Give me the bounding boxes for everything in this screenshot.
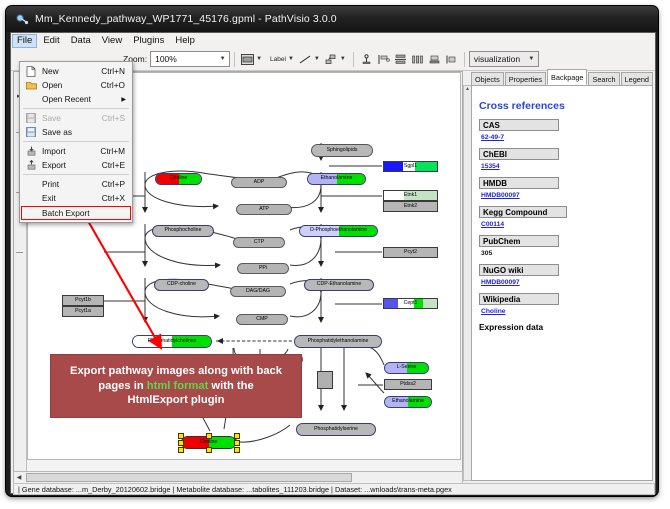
menu-item-open-label: Open [42, 80, 101, 90]
menu-item-save: Save Ctrl+S [20, 111, 132, 125]
xref-value-link[interactable]: 15354 [481, 163, 652, 170]
pathvisio-app-icon [16, 13, 29, 26]
shape-chevron-icon[interactable]: ▼ [340, 56, 346, 62]
xref-source-label: PubChem [479, 235, 559, 247]
menu-view[interactable]: View [97, 34, 127, 48]
xref-value-link[interactable]: HMDB00097 [481, 279, 652, 286]
pathway-node-dag[interactable]: DAG/DAG [230, 286, 286, 297]
cross-references-title: Cross references [479, 100, 652, 112]
import-icon [20, 146, 42, 156]
menu-edit[interactable]: Edit [38, 34, 64, 48]
shape-icon[interactable] [324, 52, 339, 67]
pathway-node-choline[interactable]: Choline [155, 173, 202, 185]
chevron-down-icon: ▼ [218, 56, 227, 62]
status-bar-text: | Gene database: ...m_Derby_20120602.bri… [18, 485, 452, 494]
menu-plugins[interactable]: Plugins [128, 34, 169, 48]
pathway-node-ethanolamine[interactable]: Ethanolamine [307, 173, 366, 185]
xref-value-link[interactable]: 62-49-7 [481, 134, 652, 141]
xref-source-label: HMDB [479, 177, 559, 189]
align-left-icon[interactable] [376, 52, 391, 67]
menu-item-new[interactable]: New Ctrl+N [20, 64, 132, 78]
xref-source-label: Wikipedia [479, 293, 559, 305]
pathway-gene-sgpl1[interactable]: Sgpl1 [383, 161, 438, 172]
menu-separator-3 [23, 174, 129, 175]
visualization-value: visualization [474, 54, 520, 64]
menu-data[interactable]: Data [66, 34, 96, 48]
window-title: Mm_Kennedy_pathway_WP1771_45176.gpml - P… [35, 13, 337, 25]
pathway-node-phosphatidylethanolamine[interactable]: Phosphatidylethanolamine [294, 335, 382, 348]
selection-handle-nw[interactable] [178, 433, 184, 439]
node-fill-green [415, 162, 437, 171]
group-icon[interactable] [444, 52, 459, 67]
menu-item-batch-export-label: Batch Export [42, 208, 130, 218]
anchor-icon[interactable] [359, 52, 374, 67]
xref-nugo-wiki: NuGO wiki HMDB00097 [472, 264, 652, 286]
annotation-callout: Export pathway images along with back pa… [50, 354, 302, 418]
zoom-combobox[interactable]: 100% ▼ [150, 51, 230, 67]
tab-properties[interactable]: Properties [505, 72, 546, 85]
xref-value-link[interactable]: HMDB00097 [481, 192, 652, 199]
tab-backpage[interactable]: Backpage [547, 69, 587, 85]
menu-item-save-label: Save [42, 113, 102, 123]
menu-item-save-as[interactable]: Save as [20, 125, 132, 139]
pathway-node-adp[interactable]: ADP [231, 177, 287, 188]
xref-chebi: ChEBI 15354 [472, 148, 652, 170]
menu-item-new-shortcut: Ctrl+N [101, 66, 125, 76]
label-button[interactable]: Label [270, 56, 286, 63]
open-folder-icon [20, 80, 42, 90]
pathway-node-ethanolamine-2[interactable]: Ethanolamine [384, 396, 432, 408]
menu-bar: File Edit Data View Plugins Help [11, 33, 655, 49]
pathway-shape-block[interactable] [317, 371, 333, 389]
node-fill-blue [384, 299, 398, 308]
selection-handle-ne[interactable] [234, 433, 240, 439]
side-panel: ▲ Objects Properties Backpage Search Leg… [463, 71, 653, 482]
menu-item-import-shortcut: Ctrl+M [100, 146, 125, 156]
pathway-node-o-phosphoethanolamine[interactable]: O-Phosphoethanolamine [299, 225, 378, 237]
callout-line-2: pages in html format with the [98, 379, 253, 394]
xref-value-link[interactable]: Choline [481, 308, 652, 315]
side-panel-tabs: Objects Properties Backpage Search Legen… [471, 71, 653, 85]
node-fill-white [384, 191, 404, 200]
pathway-gene-ptdss2[interactable]: Ptdss2 [384, 379, 432, 390]
menu-item-open-recent-label: Open Recent [42, 94, 121, 104]
tab-legend[interactable]: Legend [621, 72, 653, 85]
xref-pubchem: PubChem 305 [472, 235, 652, 257]
window-client-area: File Edit Data View Plugins Help Zoom: 1… [10, 32, 656, 494]
pathway-gene-pcyt2[interactable]: Pcyt2 [383, 247, 438, 258]
xref-kegg-compound: Kegg Compound C00114 [472, 206, 652, 228]
menu-item-print-shortcut: Ctrl+P [102, 179, 125, 189]
export-icon [20, 160, 42, 170]
menu-item-export[interactable]: Export Ctrl+E [20, 158, 132, 172]
chevron-down-icon: ▼ [527, 56, 536, 62]
save-as-icon [20, 127, 42, 137]
menu-item-exit-shortcut: Ctrl+X [102, 193, 125, 203]
pathway-node-phosphocholine[interactable]: Phosphocholine [152, 225, 214, 237]
pathway-node-cdp-choline[interactable]: CDP-choline [154, 279, 209, 291]
menu-item-import[interactable]: Import Ctrl+M [20, 144, 132, 158]
pathway-gene-etnk1[interactable]: Etnk1 [383, 190, 438, 201]
xref-value-text: 305 [481, 250, 652, 257]
menu-help[interactable]: Help [170, 34, 200, 48]
xref-source-label: CAS [479, 119, 559, 131]
callout-line-1: Export pathway images along with back [70, 364, 282, 379]
scroll-left-icon[interactable]: ◀ [14, 473, 24, 482]
pathway-node-sphingolipids[interactable]: Sphingolipids [311, 144, 373, 157]
menu-item-import-label: Import [42, 146, 100, 156]
xref-cas: CAS 62-49-7 [472, 119, 652, 141]
menu-item-exit-label: Exit [42, 193, 102, 203]
menu-separator-2 [23, 141, 129, 142]
line-chevron-icon[interactable]: ▼ [314, 56, 320, 62]
pathway-node-atp[interactable]: ATP [236, 204, 292, 215]
pathway-node-phosphatidylcholines[interactable]: Phosphatidylcholines [132, 335, 212, 348]
selection-handle-sw[interactable] [178, 447, 184, 453]
pathway-node-cmp[interactable]: CMP [236, 314, 288, 325]
gene-product-chevron-icon[interactable]: ▼ [256, 56, 262, 62]
callout-line2-post: with the [208, 380, 253, 392]
scroll-up-icon[interactable]: ▲ [464, 86, 471, 92]
pathway-node-cdp-ethanolamine[interactable]: CDP-Ethanolamine [304, 279, 374, 291]
save-disk-icon [20, 113, 42, 123]
xref-wikipedia: Wikipedia Choline [472, 293, 652, 315]
scrollbar-thumb[interactable] [26, 473, 352, 482]
xref-source-label: ChEBI [479, 148, 559, 160]
file-menu-dropdown[interactable]: New Ctrl+N Open Ctrl+O Open Recent ▶ [19, 61, 133, 223]
title-bar: Mm_Kennedy_pathway_WP1771_45176.gpml - P… [6, 6, 658, 32]
label-chevron-icon[interactable]: ▼ [288, 56, 294, 62]
pathway-gene-pcyt1a[interactable]: Pcyt1a [62, 306, 104, 317]
tab-objects[interactable]: Objects [471, 72, 504, 85]
distribute-icon[interactable] [410, 52, 425, 67]
zoom-value: 100% [155, 54, 177, 64]
xref-source-label: Kegg Compound [479, 206, 567, 218]
new-document-icon [20, 66, 42, 77]
menu-item-batch-export[interactable]: Batch Export [21, 206, 131, 220]
backpage-content: Cross references CAS 62-49-7 ChEBI 15354… [471, 85, 653, 481]
pathway-gene-etnk2[interactable]: Etnk2 [383, 201, 438, 212]
pathway-node-l-serine[interactable]: L-Serine [384, 362, 429, 374]
menu-item-new-label: New [42, 66, 101, 76]
toolbar-separator [234, 52, 235, 67]
callout-line2-pre: pages in [98, 380, 147, 392]
menu-item-print[interactable]: Print Ctrl+P [20, 177, 132, 191]
xref-value-link[interactable]: C00114 [481, 221, 652, 228]
xref-source-label: NuGO wiki [479, 264, 559, 276]
callout-line-3: HtmlExport plugin [128, 393, 225, 408]
pathway-gene-cept1[interactable]: Cept1 [383, 298, 438, 309]
stack-icon[interactable] [427, 52, 442, 67]
xref-hmdb: HMDB HMDB00097 [472, 177, 652, 199]
visualization-combobox[interactable]: visualization ▼ [469, 51, 539, 67]
menu-item-export-label: Export [42, 160, 102, 170]
menu-item-open-shortcut: Ctrl+O [101, 80, 125, 90]
toolbar-separator-2 [353, 52, 354, 67]
toolbar-separator-3 [464, 52, 465, 67]
pathway-node-ctp[interactable]: CTP [233, 237, 285, 248]
menu-file[interactable]: File [12, 34, 37, 48]
selection-handle-se[interactable] [234, 447, 240, 453]
menu-item-open-recent[interactable]: Open Recent ▶ [20, 92, 132, 106]
menu-item-save-as-label: Save as [42, 127, 125, 137]
node-fill-blue [384, 162, 403, 171]
expression-data-title: Expression data [479, 322, 652, 332]
chevron-right-icon: ▶ [121, 96, 126, 103]
line-icon[interactable] [298, 52, 313, 67]
selection-handle-e[interactable] [234, 440, 240, 446]
status-bar: | Gene database: ...m_Derby_20120602.bri… [13, 483, 655, 495]
selection-handle-n[interactable] [206, 433, 212, 439]
pathway-node-phosphatidylserine[interactable]: Phosphatidylserine [296, 423, 376, 436]
application-window: Mm_Kennedy_pathway_WP1771_45176.gpml - P… [6, 6, 658, 496]
menu-item-export-shortcut: Ctrl+E [102, 160, 125, 170]
menu-item-open[interactable]: Open Ctrl+O [20, 78, 132, 92]
callout-highlight: html format [147, 380, 209, 392]
menu-item-print-label: Print [42, 179, 102, 189]
pathway-node-ppi[interactable]: PPi [237, 263, 289, 274]
selection-handle-w[interactable] [178, 440, 184, 446]
screenshot-root: Mm_Kennedy_pathway_WP1771_45176.gpml - P… [0, 0, 670, 509]
menu-item-exit[interactable]: Exit Ctrl+X [20, 191, 132, 205]
pathway-gene-pcyt1b[interactable]: Pcyt1b [62, 295, 104, 306]
menu-separator-1 [23, 108, 129, 109]
align-middle-icon[interactable] [393, 52, 408, 67]
tab-search[interactable]: Search [588, 72, 619, 85]
menu-item-save-shortcut: Ctrl+S [102, 113, 125, 123]
selection-handle-s[interactable] [206, 447, 212, 453]
gene-product-icon[interactable] [240, 52, 255, 67]
